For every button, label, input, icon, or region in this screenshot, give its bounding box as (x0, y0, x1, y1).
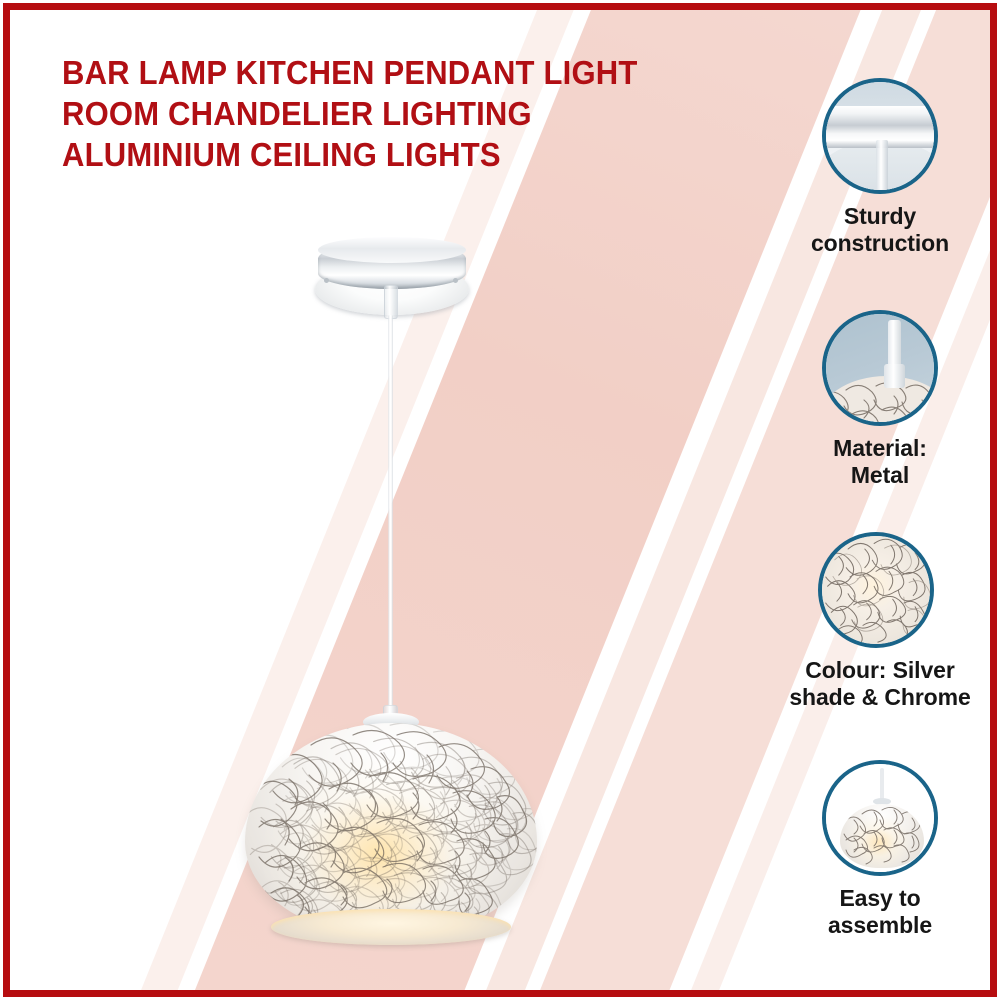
product-image (160, 205, 680, 985)
callout-line-1: Sturdy (780, 203, 980, 230)
full-lamp-icon (822, 760, 938, 876)
callout-line-2: shade & Chrome (776, 684, 984, 711)
callout-caption: Easy to assemble (780, 885, 980, 939)
callout-line-1: Easy to (780, 885, 980, 912)
callout-line-2: Metal (780, 462, 980, 489)
shade-mesh-dome (245, 723, 537, 935)
canopy-cord-grip (384, 285, 398, 319)
title-line-3: ALUMINIUM CEILING LIGHTS (62, 134, 637, 175)
title-line-1: BAR LAMP KITCHEN PENDANT LIGHT (62, 52, 637, 93)
callout-line-1: Colour: Silver (776, 657, 984, 684)
suspension-cord (388, 315, 393, 715)
page-title: BAR LAMP KITCHEN PENDANT LIGHT ROOM CHAN… (62, 52, 637, 175)
title-line-2: ROOM CHANDELIER LIGHTING (62, 93, 637, 134)
callout-material-metal: Material: Metal (780, 310, 980, 489)
callout-caption: Sturdy construction (780, 203, 980, 257)
canopy-closeup-icon (822, 78, 938, 194)
canopy-screw-left (324, 278, 329, 283)
mesh-texture-full (822, 536, 930, 644)
canopy-screw-right (453, 278, 458, 283)
callout-easy-assemble: Easy to assemble (780, 760, 980, 939)
shade-bottom-rim (271, 909, 511, 945)
ceiling-canopy (312, 233, 472, 323)
wire-mesh-texture (245, 723, 537, 935)
lamp-shade (245, 723, 537, 953)
image-canvas: BAR LAMP KITCHEN PENDANT LIGHT ROOM CHAN… (10, 10, 990, 990)
silver-mesh-texture-icon (818, 532, 934, 648)
callout-line-1: Material: (780, 435, 980, 462)
canopy-top-face (318, 237, 466, 263)
feature-callout-rail: Sturdy construction (780, 10, 990, 990)
callout-caption: Colour: Silver shade & Chrome (776, 657, 984, 711)
callout-caption: Material: Metal (780, 435, 980, 489)
product-listing-image: BAR LAMP KITCHEN PENDANT LIGHT ROOM CHAN… (0, 0, 1000, 1000)
callout-sturdy-construction: Sturdy construction (780, 78, 980, 257)
mesh-material-closeup-icon (822, 310, 938, 426)
callout-line-2: assemble (780, 912, 980, 939)
callout-line-2: construction (780, 230, 980, 257)
callout-colour-silver: Colour: Silver shade & Chrome (776, 532, 976, 711)
